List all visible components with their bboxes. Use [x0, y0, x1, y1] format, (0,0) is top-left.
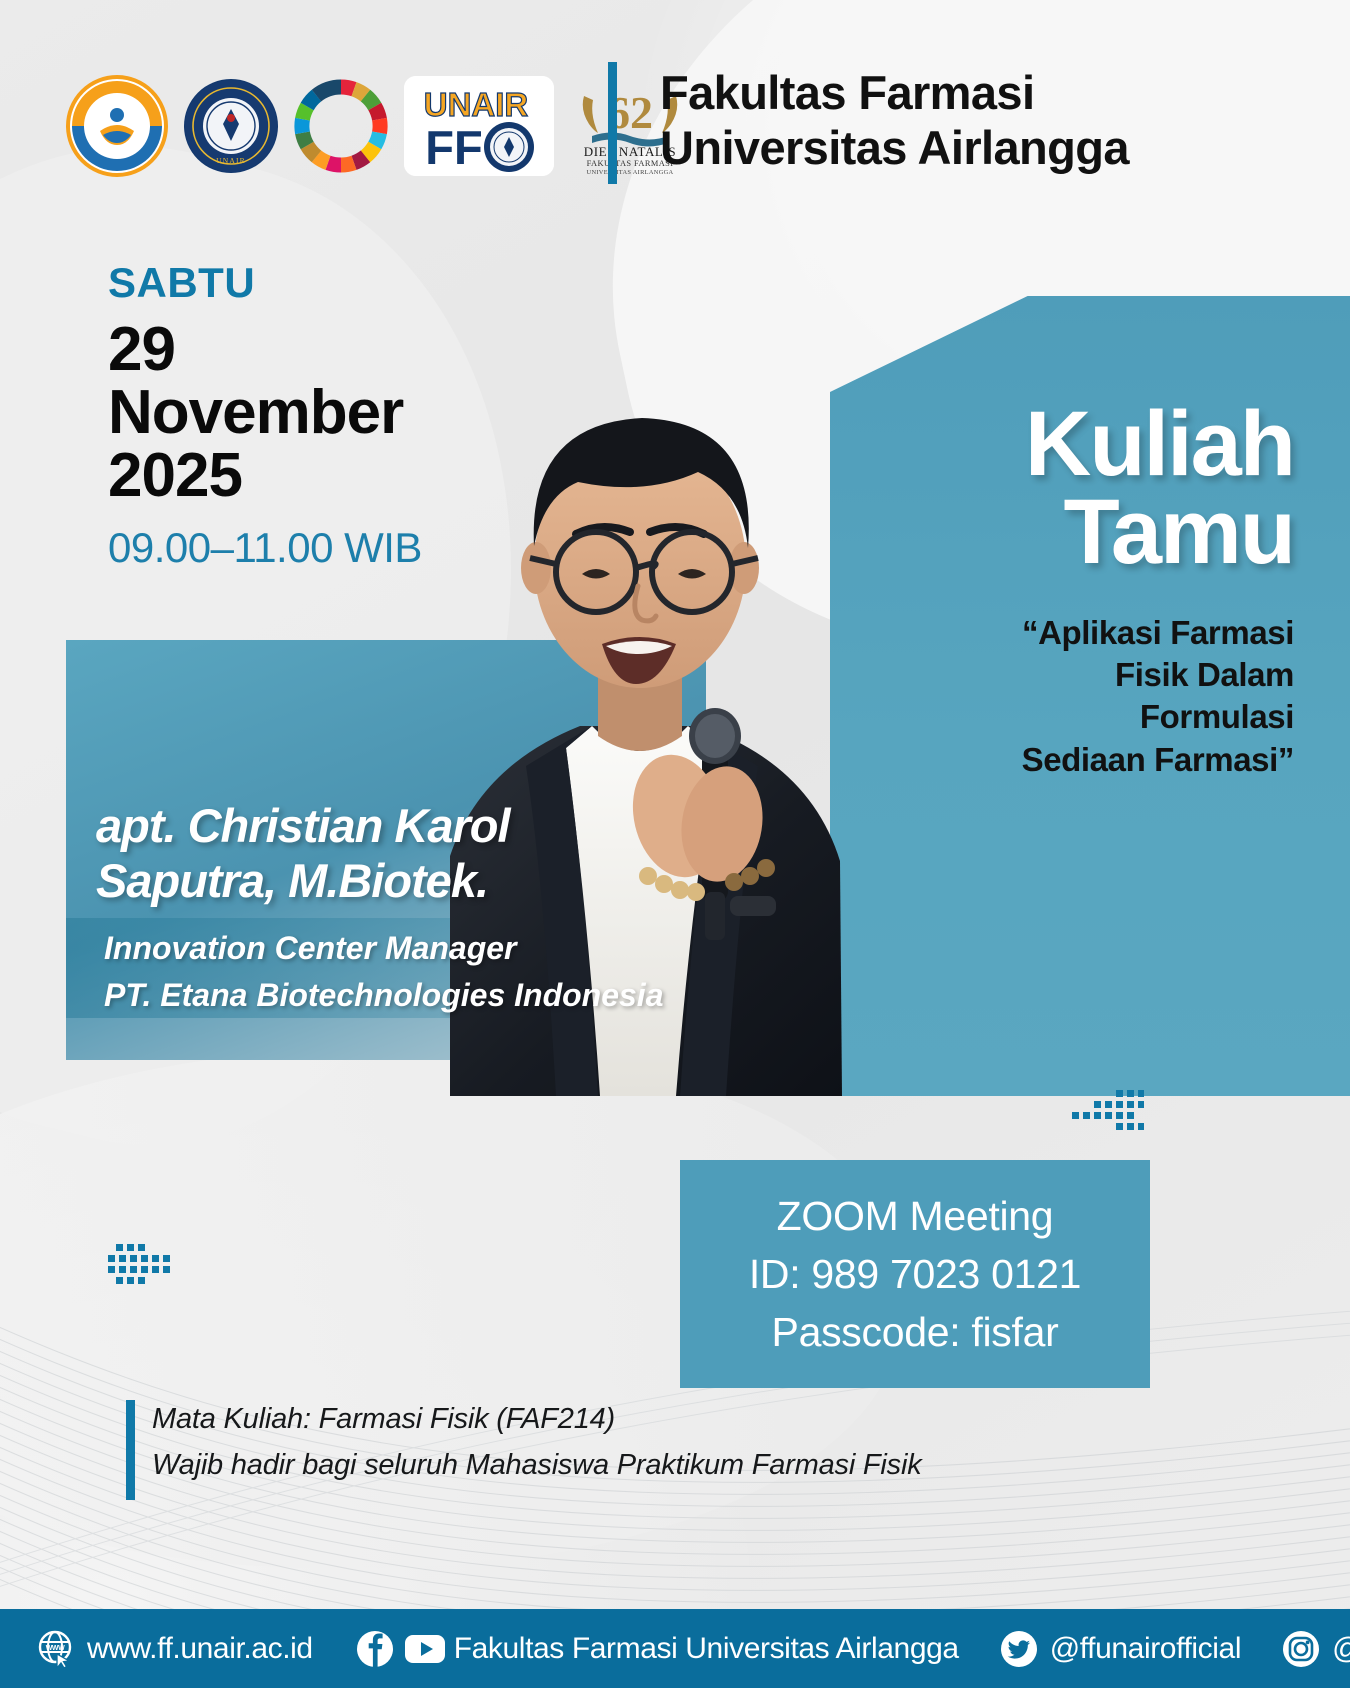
speaker-name: apt. Christian Karol Saputra, M.Biotek.: [96, 798, 696, 909]
twitter-icon: [999, 1629, 1039, 1669]
instagram-icon: [1281, 1629, 1321, 1669]
page-title: Fakultas Farmasi Universitas Airlangga: [660, 66, 1300, 176]
sdg-wheel-logo: [294, 79, 388, 173]
footer-social-page-label: Fakultas Farmasi Universitas Airlangga: [454, 1632, 959, 1666]
diktisaintek-berdampak-logo: [66, 75, 168, 177]
svg-text:UNAIR: UNAIR: [424, 86, 529, 123]
event-time: 09.00–11.00 WIB: [108, 524, 538, 572]
facebook-icon[interactable]: [355, 1629, 395, 1669]
course-note-line1: Mata Kuliah: Farmasi Fisik (FAF214): [152, 1396, 922, 1442]
event-topic-line4: Sediaan Farmasi”: [914, 739, 1294, 781]
course-note-line2: Wajib hadir bagi seluruh Mahasiswa Prakt…: [152, 1442, 922, 1488]
header-title-line1: Fakultas Farmasi: [660, 66, 1300, 121]
zoom-meeting-id: ID: 989 7023 0121: [749, 1245, 1081, 1303]
svg-text:FF: FF: [425, 121, 482, 174]
dot-grid-left-icon: [108, 1242, 188, 1284]
course-note: Mata Kuliah: Farmasi Fisik (FAF214) Waji…: [152, 1396, 922, 1489]
footer-instagram-label: @ff.unair: [1332, 1632, 1350, 1666]
event-topic-line1: “Aplikasi Farmasi: [914, 612, 1294, 654]
social-icon-pair: [355, 1629, 443, 1669]
footer-instagram[interactable]: @ff.unair: [1281, 1629, 1350, 1669]
poster-header: UNAIR: [0, 0, 1350, 205]
event-topic-line2: Fisik Dalam: [914, 654, 1294, 696]
footer-bar: WWW www.ff.unair.ac.id: [0, 1609, 1350, 1688]
event-topic-line3: Formulasi: [914, 696, 1294, 738]
speaker-name-line1: apt. Christian Karol: [96, 798, 696, 853]
speaker-affiliation: Innovation Center Manager PT. Etana Biot…: [104, 925, 724, 1020]
speaker-organization: PT. Etana Biotechnologies Indonesia: [104, 972, 724, 1019]
zoom-passcode: Passcode: fisfar: [772, 1303, 1059, 1361]
dot-grid-right-icon: [1064, 1088, 1144, 1130]
logo-strip: UNAIR: [66, 72, 690, 180]
speaker-role: Innovation Center Manager: [104, 925, 724, 972]
event-topic: “Aplikasi Farmasi Fisik Dalam Formulasi …: [914, 612, 1294, 781]
footer-twitter[interactable]: @ffunairofficial: [999, 1629, 1241, 1669]
event-date: 29 November 2025: [108, 318, 538, 508]
footer-website-label: www.ff.unair.ac.id: [87, 1632, 313, 1666]
header-divider-rule: [608, 62, 617, 184]
youtube-icon[interactable]: [403, 1629, 443, 1669]
poster-canvas: UNAIR: [0, 0, 1350, 1688]
unair-ffo-logo: UNAIR FF: [404, 76, 554, 176]
svg-text:UNAIR: UNAIR: [216, 156, 246, 165]
event-date-day: 29: [108, 318, 538, 381]
svg-text:WWW: WWW: [46, 1645, 65, 1652]
event-date-block: SABTU 29 November 2025 09.00–11.00 WIB: [108, 262, 538, 572]
zoom-meeting-box: ZOOM Meeting ID: 989 7023 0121 Passcode:…: [680, 1160, 1150, 1388]
zoom-label: ZOOM Meeting: [777, 1187, 1054, 1245]
note-accent-bar: [126, 1400, 135, 1500]
event-type-line2: Tamu: [1025, 488, 1294, 576]
event-day-name: SABTU: [108, 262, 538, 304]
event-type-line1: Kuliah: [1025, 400, 1294, 488]
globe-icon: WWW: [36, 1629, 76, 1669]
footer-twitter-label: @ffunairofficial: [1050, 1632, 1241, 1666]
event-date-month: November: [108, 381, 538, 444]
universitas-airlangga-seal: UNAIR: [184, 79, 278, 173]
footer-website[interactable]: WWW www.ff.unair.ac.id: [36, 1629, 313, 1669]
footer-social-page[interactable]: Fakultas Farmasi Universitas Airlangga: [355, 1629, 959, 1669]
speaker-name-line2: Saputra, M.Biotek.: [96, 853, 696, 908]
header-title-line2: Universitas Airlangga: [660, 121, 1300, 176]
event-date-year: 2025: [108, 444, 538, 507]
event-type-title: Kuliah Tamu: [1025, 400, 1294, 577]
